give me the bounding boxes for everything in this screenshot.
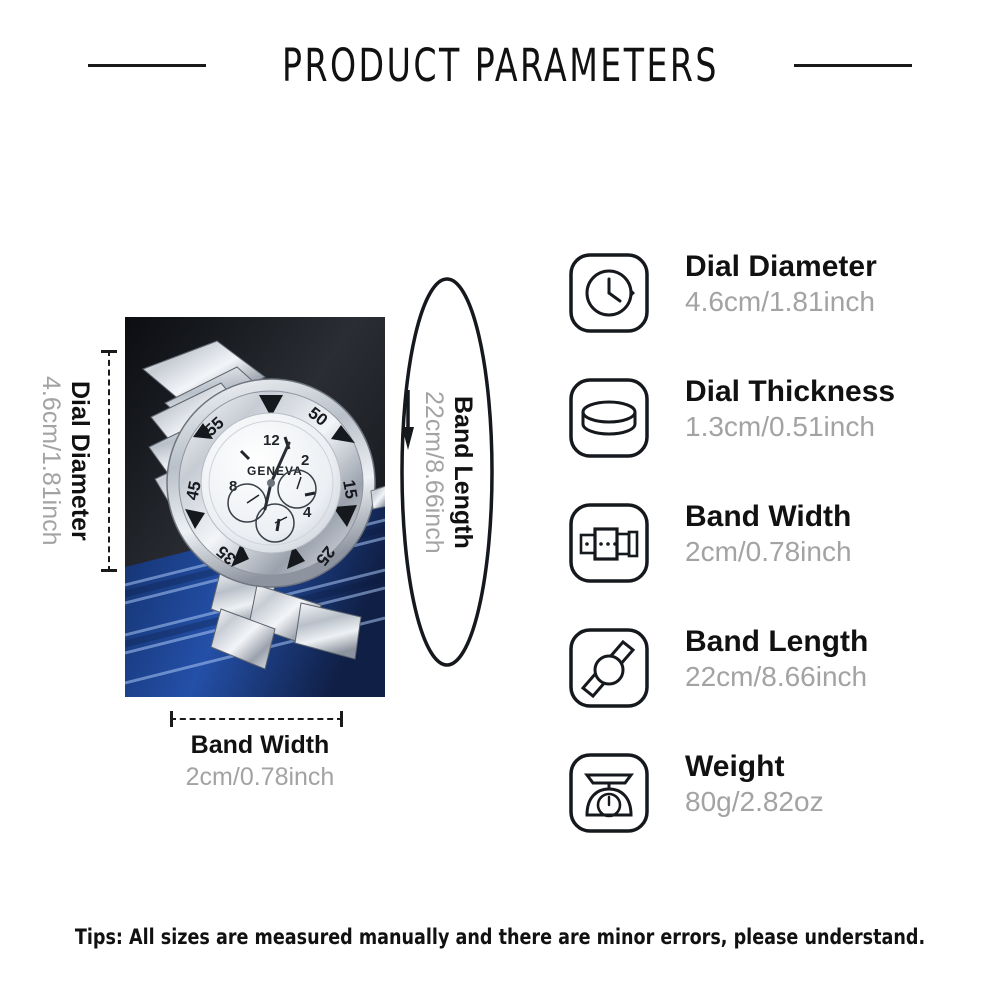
svg-text:15: 15 bbox=[339, 478, 361, 500]
dimension-stem bbox=[170, 718, 343, 720]
spec-text-dial-thickness: Dial Thickness 1.3cm/0.51inch bbox=[685, 372, 895, 445]
spec-row-dial-thickness: Dial Thickness 1.3cm/0.51inch bbox=[567, 372, 967, 497]
specification-list: Dial Diameter 4.6cm/1.81inch Dial Thickn… bbox=[567, 247, 967, 872]
band-length-loop-arrow bbox=[392, 272, 502, 672]
watch-dial-icon bbox=[567, 251, 651, 335]
spec-label: Weight bbox=[685, 749, 824, 784]
spec-row-band-length: Band Length 22cm/8.66inch bbox=[567, 622, 967, 747]
spec-text-band-length: Band Length 22cm/8.66inch bbox=[685, 622, 868, 695]
dial-diameter-annotation: Dial Diameter 4.6cm/1.81inch bbox=[28, 350, 102, 572]
disc-thickness-icon bbox=[567, 376, 651, 460]
tips-note: Tips: All sizes are measured manually an… bbox=[35, 925, 965, 949]
spec-value: 2cm/0.78inch bbox=[685, 534, 852, 570]
spec-value: 80g/2.82oz bbox=[685, 784, 824, 820]
spec-text-band-width: Band Width 2cm/0.78inch bbox=[685, 497, 852, 570]
spec-label: Dial Diameter bbox=[685, 249, 877, 284]
watch-strap-icon bbox=[567, 626, 651, 710]
spec-value: 4.6cm/1.81inch bbox=[685, 284, 877, 320]
title-rule-right bbox=[794, 64, 912, 67]
dial-diameter-annotation-label: Dial Diameter bbox=[67, 381, 92, 541]
product-photo-image: 50 55 15 45 25 35 12 2 4 8 bbox=[125, 317, 385, 697]
dimension-stem bbox=[108, 350, 110, 572]
page-title: PRODUCT PARAMETERS bbox=[281, 39, 718, 92]
band-width-annotation-value: 2cm/0.78inch bbox=[90, 761, 430, 794]
band-width-annotation: Band Width 2cm/0.78inch bbox=[90, 730, 430, 794]
spec-row-dial-diameter: Dial Diameter 4.6cm/1.81inch bbox=[567, 247, 967, 372]
spec-value: 1.3cm/0.51inch bbox=[685, 409, 895, 445]
svg-text:12: 12 bbox=[263, 432, 280, 449]
page-title-bar: PRODUCT PARAMETERS bbox=[0, 34, 1000, 96]
product-photo: 50 55 15 45 25 35 12 2 4 8 bbox=[125, 317, 385, 697]
dial-diameter-dimension-line bbox=[101, 350, 117, 572]
spec-row-weight: Weight 80g/2.82oz bbox=[567, 747, 967, 872]
spec-text-weight: Weight 80g/2.82oz bbox=[685, 747, 824, 820]
kitchen-scale-icon bbox=[567, 751, 651, 835]
spec-label: Dial Thickness bbox=[685, 374, 895, 409]
dimension-cap-right bbox=[340, 711, 343, 727]
dimension-cap-bottom bbox=[101, 569, 117, 572]
dial-diameter-annotation-value: 4.6cm/1.81inch bbox=[38, 376, 63, 546]
title-rule-left bbox=[88, 64, 206, 67]
spec-label: Band Length bbox=[685, 624, 868, 659]
watch-clasp-icon bbox=[567, 501, 651, 585]
spec-value: 22cm/8.66inch bbox=[685, 659, 868, 695]
spec-label: Band Width bbox=[685, 499, 852, 534]
svg-text:8: 8 bbox=[229, 478, 237, 495]
spec-text-dial-diameter: Dial Diameter 4.6cm/1.81inch bbox=[685, 247, 877, 320]
spec-row-band-width: Band Width 2cm/0.78inch bbox=[567, 497, 967, 622]
band-width-dimension-line bbox=[170, 711, 343, 727]
band-width-annotation-label: Band Width bbox=[90, 730, 430, 761]
